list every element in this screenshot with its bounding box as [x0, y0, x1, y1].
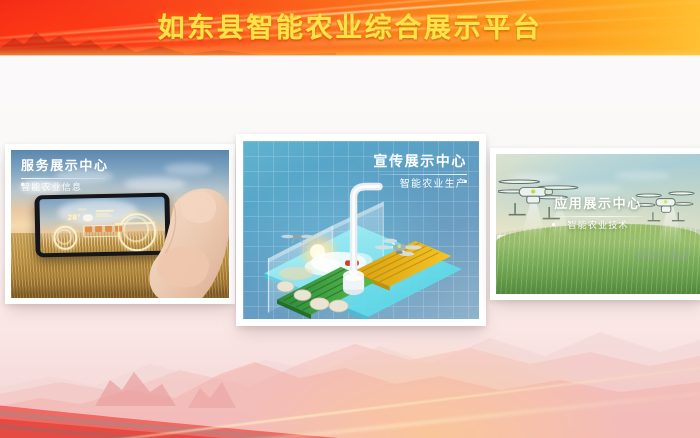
card-promotion-subtitle: 智能农业生产 — [373, 180, 467, 190]
card-service-caption: 服务展示中心 智能农业信息 — [21, 160, 109, 193]
card-application-caption: 应用展示中心 智能农业技术 — [496, 198, 700, 231]
card-application-subtitle: 智能农业技术 — [496, 222, 700, 231]
card-application-dot — [552, 223, 555, 226]
card-service-center[interactable]: 28° — [5, 144, 235, 304]
card-application-inner: 应用展示中心 智能农业技术 — [496, 154, 700, 294]
page-title: 如东县智能农业综合展示平台 — [158, 15, 543, 42]
card-service-inner: 28° — [11, 150, 229, 298]
card-promotion-caption: 宣传展示中心 智能农业生产 — [373, 155, 467, 190]
hud-temperature: 28° — [67, 214, 80, 222]
card-application-center[interactable]: 应用展示中心 智能农业技术 — [490, 148, 700, 300]
card-promotion-inner: 宣传展示中心 智能农业生产 — [243, 141, 479, 319]
card-promotion-center[interactable]: 宣传展示中心 智能农业生产 — [236, 134, 486, 326]
banner-bottom-edge — [0, 55, 700, 56]
hand-holding-phone — [142, 177, 229, 298]
page-title-wrap: 如东县智能农业综合展示平台 — [0, 0, 700, 56]
card-promotion-divider — [379, 174, 467, 175]
card-service-title: 服务展示中心 — [21, 160, 109, 173]
page-header-banner: 如东县智能农业综合展示平台 — [0, 0, 700, 56]
card-service-divider — [21, 178, 105, 179]
card-promotion-title: 宣传展示中心 — [373, 155, 467, 169]
card-promotion-dot — [464, 180, 467, 183]
platform-showcase-page: 如东县智能农业综合展示平台 — [0, 0, 700, 438]
card-service-subtitle: 智能农业信息 — [21, 184, 109, 193]
card-service-dot — [21, 183, 24, 186]
card-application-title: 应用展示中心 — [496, 198, 700, 211]
card-application-divider — [553, 216, 643, 217]
